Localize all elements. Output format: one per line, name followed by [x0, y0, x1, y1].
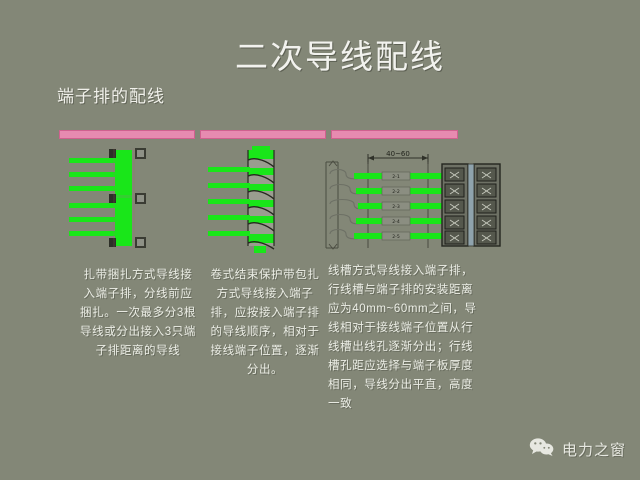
diagram-tie-wrap [59, 146, 199, 256]
wechat-icon [529, 437, 555, 462]
slide-canvas: 二次导线配线 端子排的配线 [0, 0, 640, 480]
caption-wiring-duct: 线槽方式导线接入端子排，行线槽与端子排的安装距离应为40mm~60mm之间，导线… [328, 262, 478, 414]
watermark-label: 电力之窗 [562, 439, 626, 460]
wire-tag-1: 2-1 [392, 174, 400, 180]
wire-tag-4: 2-4 [392, 219, 400, 225]
caption-tie-wrap: 扎带捆扎方式导线接入端子排，分线前应捆扎。一次最多分3根导线或分出接入3只端子排… [78, 266, 198, 361]
wire-tag-3: 2-3 [392, 204, 400, 210]
accent-bar-1 [59, 130, 195, 139]
accent-bar-3 [331, 130, 458, 139]
wire-tag-2: 2-2 [392, 189, 400, 195]
diagram-wiring-duct: 40~60 [324, 144, 504, 256]
page-subtitle: 端子排的配线 [57, 82, 165, 107]
page-title: 二次导线配线 [0, 30, 640, 78]
caption-spiral-wrap: 卷式结束保护带包扎方式导线接入端子排，应按接入端子排的导线顺序，相对于接线端子位… [206, 266, 324, 380]
watermark: 电力之窗 [529, 437, 626, 462]
wire-tag-5: 2-5 [392, 234, 400, 240]
accent-bar-2 [200, 130, 326, 139]
dimension-label-40-60: 40~60 [386, 150, 410, 158]
diagram-spiral-wrap [196, 146, 326, 256]
